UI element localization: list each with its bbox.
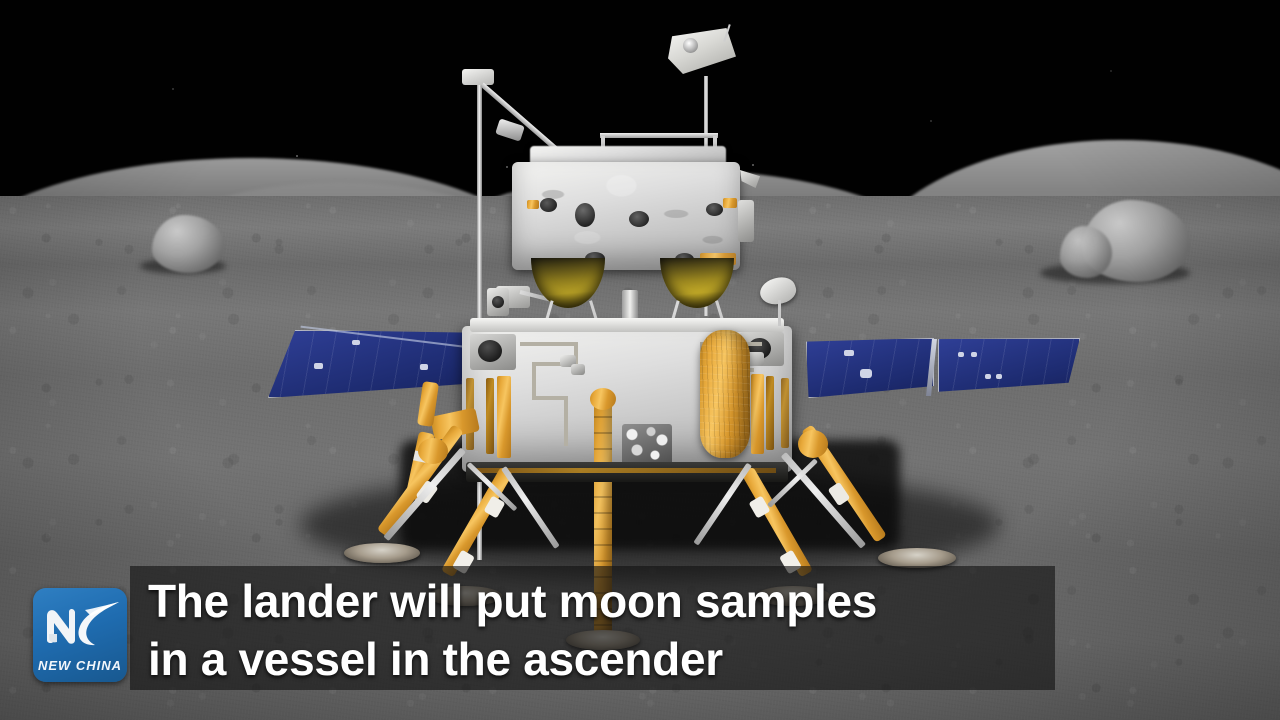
lander-pipe	[532, 362, 536, 398]
ascender-side-trim	[527, 200, 539, 209]
secondary-dish-mast	[778, 300, 781, 326]
ascender-top-rail	[600, 133, 718, 138]
lander-top-deck	[470, 318, 784, 332]
nc-monogram-icon	[39, 596, 121, 652]
landing-pad	[344, 543, 420, 563]
leg-joint-cap	[798, 430, 828, 458]
watermark-caption: NEW CHINA	[33, 658, 127, 673]
solar-cells	[939, 339, 1079, 393]
ascender-side-box	[738, 200, 754, 242]
solar-cells	[807, 339, 933, 397]
ascender-port	[706, 203, 723, 216]
lander-hatch-port	[478, 340, 502, 362]
thermal-blanket-strip	[766, 376, 774, 450]
thermal-blanket-strip	[751, 374, 764, 454]
ascender-side-trim	[723, 198, 737, 208]
mast-head-icon	[462, 69, 494, 85]
center-mast-head	[590, 388, 616, 410]
landing-pad	[878, 548, 956, 568]
panel-fitting	[985, 374, 991, 379]
dish-feed-icon	[683, 38, 698, 53]
machinery-cluster	[622, 424, 672, 466]
panel-fitting	[971, 352, 977, 357]
solar-panel-right-inner	[806, 338, 934, 398]
thermal-blanket-strip	[781, 378, 789, 448]
lander-pipe	[532, 396, 568, 400]
panel-fitting	[996, 374, 1002, 379]
new-china-watermark: NEW CHINA	[33, 588, 127, 682]
panel-fitting	[958, 352, 964, 357]
lower-skirt-trim	[476, 468, 776, 473]
thermal-blanket-strip	[497, 376, 511, 458]
ascender-thruster-icon	[740, 170, 760, 188]
panel-fitting	[844, 350, 854, 356]
lander-pipe-joint	[571, 364, 585, 375]
video-frame: The lander will put moon samples in a ve…	[0, 0, 1280, 720]
panel-fitting	[860, 369, 872, 378]
panel-fitting	[352, 340, 360, 345]
ascender-port	[575, 203, 595, 227]
thermal-blanket-strip	[486, 378, 494, 454]
engine-nozzle	[531, 258, 605, 308]
panel-fitting	[420, 364, 428, 370]
solar-panel-left	[268, 330, 478, 398]
ascender-port	[540, 198, 557, 212]
panel-fitting	[314, 363, 323, 369]
lander-pipe	[520, 342, 578, 346]
lander-pipe	[564, 396, 568, 446]
subtitle-text: The lander will put moon samples in a ve…	[148, 572, 1048, 688]
solar-cells	[269, 331, 477, 397]
propellant-tank-texture	[700, 330, 750, 458]
ascender-port	[629, 211, 649, 227]
leg-joint-cap	[418, 438, 448, 464]
instrument-port-icon	[492, 296, 504, 308]
solar-panel-right-outer	[938, 338, 1080, 394]
engine-nozzle	[660, 258, 734, 308]
